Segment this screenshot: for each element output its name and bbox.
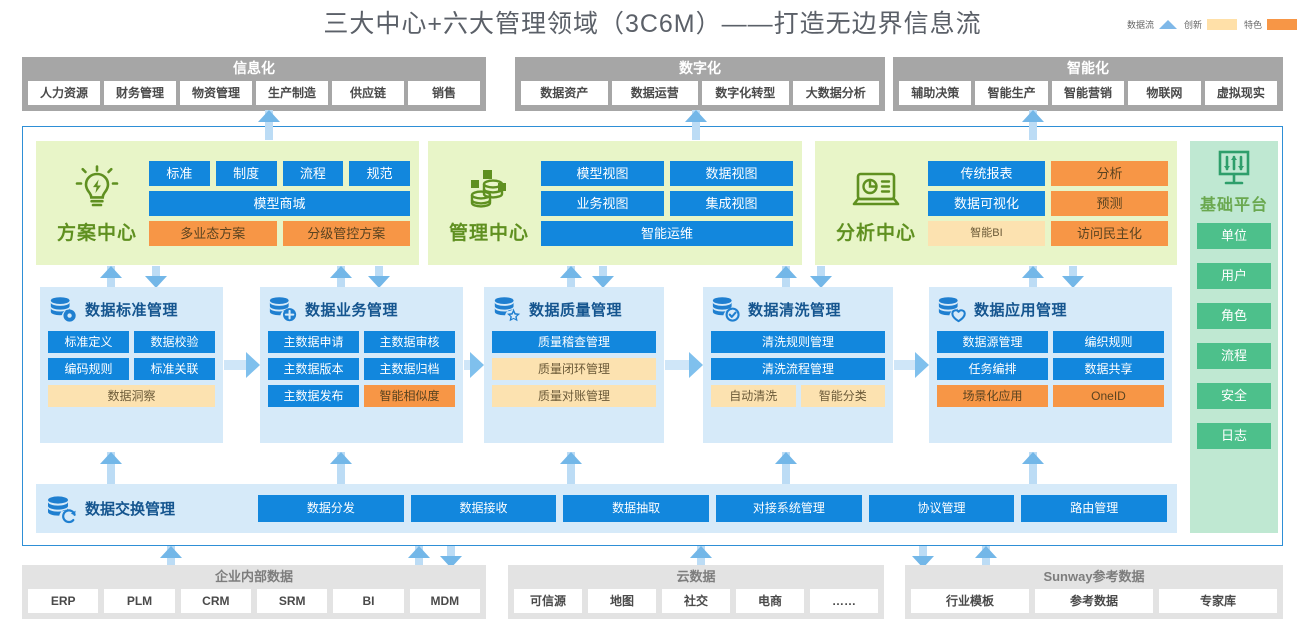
- module-item[interactable]: 主数据发布: [268, 385, 359, 407]
- center-item[interactable]: 规范: [349, 161, 410, 186]
- source-title: 云数据: [514, 568, 878, 585]
- source-cell[interactable]: ……: [810, 589, 878, 613]
- module-item[interactable]: 智能分类: [801, 385, 886, 407]
- band-cell[interactable]: 数据运营: [612, 81, 699, 105]
- center-item[interactable]: 访问民主化: [1051, 221, 1168, 246]
- equalizer-monitor-icon: [1213, 149, 1255, 189]
- legend-swatch-feature: [1267, 19, 1297, 30]
- module-item[interactable]: 主数据申请: [268, 331, 359, 353]
- module-items: 质量稽查管理 质量闭环管理 质量对账管理: [492, 331, 656, 407]
- module-item[interactable]: 清洗流程管理: [711, 358, 885, 380]
- module-header: 数据清洗管理: [711, 294, 885, 324]
- module-item[interactable]: 标准定义: [48, 331, 129, 353]
- band-items: 辅助决策 智能生产 智能营销 物联网 虚拟现实: [899, 81, 1277, 105]
- legend-item-innovation: 创新: [1184, 18, 1237, 31]
- flow-arrow-down: [1062, 266, 1084, 288]
- base-platform-item[interactable]: 单位: [1197, 223, 1271, 249]
- source-cell[interactable]: 电商: [736, 589, 804, 613]
- flow-arrow-up: [560, 266, 582, 288]
- center-item[interactable]: 模型视图: [541, 161, 664, 186]
- exchange-title: 数据交换管理: [85, 498, 175, 519]
- module-header: 数据应用管理: [937, 294, 1164, 324]
- band-title: 信息化: [28, 60, 480, 77]
- base-platform-item[interactable]: 角色: [1197, 303, 1271, 329]
- module-header: 数据业务管理: [268, 294, 455, 324]
- band-cell[interactable]: 物联网: [1128, 81, 1200, 105]
- source-items: 可信源 地图 社交 电商 ……: [514, 589, 878, 613]
- band-cell[interactable]: 虚拟现实: [1205, 81, 1277, 105]
- band-title: 智能化: [899, 60, 1277, 77]
- module-items: 数据源管理 编织规则 任务编排 数据共享 场景化应用 OneID: [937, 331, 1164, 407]
- center-item[interactable]: 制度: [216, 161, 277, 186]
- center-item[interactable]: 传统报表: [928, 161, 1045, 186]
- flow-arrow-up: [775, 266, 797, 288]
- module-data-cleaning: 数据清洗管理 清洗规则管理 清洗流程管理 自动清洗 智能分类: [703, 287, 893, 443]
- exchange-item[interactable]: 对接系统管理: [716, 495, 862, 522]
- band-title: 数字化: [521, 60, 879, 77]
- band-informatization: 信息化 人力资源 财务管理 物资管理 生产制造 供应链 销售: [22, 57, 486, 111]
- source-title: 企业内部数据: [28, 568, 480, 585]
- legend-item-feature: 特色: [1244, 18, 1297, 31]
- source-cell[interactable]: 可信源: [514, 589, 582, 613]
- module-header: 数据质量管理: [492, 294, 656, 324]
- flow-arrow-right: [224, 352, 260, 378]
- source-items: 行业模板 参考数据 专家库: [911, 589, 1277, 613]
- flow-arrow-down: [810, 266, 832, 288]
- module-item[interactable]: 质量闭环管理: [492, 358, 656, 380]
- flow-arrow-up: [685, 110, 707, 140]
- center-name: 管理中心: [449, 218, 529, 245]
- band-cell[interactable]: 生产制造: [256, 81, 328, 105]
- flow-arrow-right: [464, 352, 484, 378]
- database-plus-icon: [268, 294, 298, 324]
- module-title: 数据标准管理: [85, 299, 178, 320]
- legend-label-innovation: 创新: [1184, 18, 1202, 31]
- module-items: 主数据申请 主数据审核 主数据版本 主数据归档 主数据发布 智能相似度: [268, 331, 455, 407]
- module-items: 标准定义 数据校验 编码规则 标准关联 数据洞察: [48, 331, 215, 407]
- flow-arrow-up: [1022, 266, 1044, 288]
- flow-arrow-down: [592, 266, 614, 288]
- center-management: 管理中心 模型视图 数据视图 业务视图 集成视图 智能运维: [428, 141, 802, 265]
- band-cell[interactable]: 数据资产: [521, 81, 608, 105]
- center-solution: 方案中心 标准 制度 流程 规范 模型商城 多业态方案 分级管控方案: [36, 141, 419, 265]
- base-platform-items: 单位 用户 角色 流程 安全 日志: [1197, 223, 1271, 525]
- band-cell[interactable]: 销售: [408, 81, 480, 105]
- up-arrow-icon: [1159, 20, 1177, 29]
- legend-item-dataflow: 数据流: [1127, 18, 1177, 31]
- base-platform-item[interactable]: 用户: [1197, 263, 1271, 289]
- database-star-icon: [492, 294, 522, 324]
- band-cell[interactable]: 辅助决策: [899, 81, 971, 105]
- exchange-item[interactable]: 数据抽取: [563, 495, 709, 522]
- module-item[interactable]: 场景化应用: [937, 385, 1048, 407]
- database-stack-icon: [462, 162, 516, 216]
- center-item[interactable]: 数据可视化: [928, 191, 1045, 216]
- center-item[interactable]: 模型商城: [149, 191, 410, 216]
- module-item[interactable]: OneID: [1053, 385, 1164, 407]
- module-title: 数据质量管理: [529, 299, 622, 320]
- module-item[interactable]: 主数据版本: [268, 358, 359, 380]
- flow-arrow-up: [100, 452, 122, 484]
- module-data-application: 数据应用管理 数据源管理 编织规则 任务编排 数据共享 场景化应用 OneID: [929, 287, 1172, 443]
- center-item[interactable]: 流程: [283, 161, 344, 186]
- module-data-exchange: 数据交换管理 数据分发 数据接收 数据抽取 对接系统管理 协议管理 路由管理: [36, 484, 1177, 533]
- center-item[interactable]: 集成视图: [670, 191, 793, 216]
- module-item[interactable]: 主数据审核: [364, 331, 455, 353]
- flow-arrow-down: [145, 266, 167, 288]
- flow-arrow-up: [560, 452, 582, 484]
- module-items: 清洗规则管理 清洗流程管理 自动清洗 智能分类: [711, 331, 885, 407]
- exchange-item[interactable]: 协议管理: [869, 495, 1015, 522]
- center-item[interactable]: 分级管控方案: [283, 221, 411, 246]
- database-check-icon: [711, 294, 741, 324]
- module-item[interactable]: 智能相似度: [364, 385, 455, 407]
- band-cell[interactable]: 财务管理: [104, 81, 176, 105]
- source-cell[interactable]: 地图: [588, 589, 656, 613]
- flow-arrow-up: [258, 110, 280, 140]
- exchange-header: 数据交换管理: [46, 493, 251, 525]
- center-items: 标准 制度 流程 规范 模型商城 多业态方案 分级管控方案: [149, 148, 410, 258]
- module-item[interactable]: 主数据归档: [364, 358, 455, 380]
- source-title: Sunway参考数据: [911, 568, 1277, 585]
- database-sync-icon: [46, 493, 78, 525]
- center-identity: 方案中心: [45, 162, 149, 245]
- legend-label-dataflow: 数据流: [1127, 18, 1154, 31]
- exchange-item[interactable]: 数据接收: [411, 495, 557, 522]
- module-item[interactable]: 数据校验: [134, 331, 215, 353]
- center-item[interactable]: 智能运维: [541, 221, 793, 246]
- band-cell[interactable]: 智能生产: [975, 81, 1047, 105]
- center-item[interactable]: 多业态方案: [149, 221, 277, 246]
- exchange-item[interactable]: 数据分发: [258, 495, 404, 522]
- module-item[interactable]: 任务编排: [937, 358, 1048, 380]
- band-cell[interactable]: 大数据分析: [793, 81, 880, 105]
- band-cell[interactable]: 供应链: [332, 81, 404, 105]
- lightbulb-icon: [70, 162, 124, 216]
- band-cell[interactable]: 物资管理: [180, 81, 252, 105]
- band-items: 人力资源 财务管理 物资管理 生产制造 供应链 销售: [28, 81, 480, 105]
- source-cell[interactable]: BI: [333, 589, 403, 613]
- center-analysis: 分析中心 传统报表 分析 数据可视化 预测 智能BI 访问民主化: [815, 141, 1177, 265]
- source-cloud: 云数据 可信源 地图 社交 电商 ……: [508, 565, 884, 619]
- flow-arrow-right: [894, 352, 929, 378]
- page-title: 三大中心+六大管理领域（3C6M）——打造无边界信息流: [0, 4, 1305, 40]
- module-title: 数据业务管理: [305, 299, 398, 320]
- source-items: ERP PLM CRM SRM BI MDM: [28, 589, 480, 613]
- center-name: 方案中心: [57, 218, 137, 245]
- base-platform-panel: 基础平台 单位 用户 角色 流程 安全 日志: [1190, 141, 1278, 533]
- base-platform-item[interactable]: 安全: [1197, 383, 1271, 409]
- center-item[interactable]: 智能BI: [928, 221, 1045, 246]
- source-cell[interactable]: 行业模板: [911, 589, 1029, 613]
- module-data-standard: 数据标准管理 标准定义 数据校验 编码规则 标准关联 数据洞察: [40, 287, 223, 443]
- center-items: 传统报表 分析 数据可视化 预测 智能BI 访问民主化: [928, 148, 1168, 258]
- center-identity: 分析中心: [824, 162, 928, 245]
- base-platform-item[interactable]: 日志: [1197, 423, 1271, 449]
- module-item[interactable]: 编码规则: [48, 358, 129, 380]
- center-identity: 管理中心: [437, 162, 541, 245]
- band-intelligentization: 智能化 辅助决策 智能生产 智能营销 物联网 虚拟现实: [893, 57, 1283, 111]
- source-cell[interactable]: SRM: [257, 589, 327, 613]
- flow-arrow-up: [330, 452, 352, 484]
- legend: 数据流 创新 特色: [1127, 18, 1297, 31]
- module-item[interactable]: 自动清洗: [711, 385, 796, 407]
- source-internal: 企业内部数据 ERP PLM CRM SRM BI MDM: [22, 565, 486, 619]
- source-cell[interactable]: 专家库: [1159, 589, 1277, 613]
- module-item[interactable]: 标准关联: [134, 358, 215, 380]
- flow-arrow-up: [330, 266, 352, 288]
- flow-arrow-up: [775, 452, 797, 484]
- source-sunway: Sunway参考数据 行业模板 参考数据 专家库: [905, 565, 1283, 619]
- module-item[interactable]: 质量对账管理: [492, 385, 656, 407]
- base-platform-title: 基础平台: [1200, 191, 1268, 215]
- module-data-quality: 数据质量管理 质量稽查管理 质量闭环管理 质量对账管理: [484, 287, 664, 443]
- source-cell[interactable]: 社交: [662, 589, 730, 613]
- flow-arrow-up: [100, 266, 122, 288]
- module-item[interactable]: 数据共享: [1053, 358, 1164, 380]
- laptop-chart-icon: [849, 162, 903, 216]
- band-cell[interactable]: 人力资源: [28, 81, 100, 105]
- exchange-item[interactable]: 路由管理: [1021, 495, 1167, 522]
- center-item[interactable]: 标准: [149, 161, 210, 186]
- module-header: 数据标准管理: [48, 294, 215, 324]
- flow-arrow-up: [1022, 452, 1044, 484]
- source-cell[interactable]: PLM: [104, 589, 174, 613]
- center-item[interactable]: 业务视图: [541, 191, 664, 216]
- module-item[interactable]: 清洗规则管理: [711, 331, 885, 353]
- source-cell[interactable]: MDM: [410, 589, 480, 613]
- source-cell[interactable]: ERP: [28, 589, 98, 613]
- band-cell[interactable]: 数字化转型: [702, 81, 789, 105]
- flow-arrow-down: [368, 266, 390, 288]
- legend-swatch-innovation: [1207, 19, 1237, 30]
- source-cell[interactable]: CRM: [181, 589, 251, 613]
- legend-label-feature: 特色: [1244, 18, 1262, 31]
- module-item[interactable]: 编织规则: [1053, 331, 1164, 353]
- band-items: 数据资产 数据运营 数字化转型 大数据分析: [521, 81, 879, 105]
- center-items: 模型视图 数据视图 业务视图 集成视图 智能运维: [541, 148, 793, 258]
- module-data-business: 数据业务管理 主数据申请 主数据审核 主数据版本 主数据归档 主数据发布 智能相…: [260, 287, 463, 443]
- band-digitalization: 数字化 数据资产 数据运营 数字化转型 大数据分析: [515, 57, 885, 111]
- center-item[interactable]: 分析: [1051, 161, 1168, 186]
- module-item[interactable]: 质量稽查管理: [492, 331, 656, 353]
- flow-arrow-right: [665, 352, 703, 378]
- module-item[interactable]: 数据源管理: [937, 331, 1048, 353]
- source-cell[interactable]: 参考数据: [1035, 589, 1153, 613]
- center-item[interactable]: 数据视图: [670, 161, 793, 186]
- base-platform-item[interactable]: 流程: [1197, 343, 1271, 369]
- band-cell[interactable]: 智能营销: [1052, 81, 1124, 105]
- center-name: 分析中心: [836, 218, 916, 245]
- flow-arrow-up: [1022, 110, 1044, 140]
- module-item[interactable]: 数据洞察: [48, 385, 215, 407]
- database-gear-icon: [48, 294, 78, 324]
- module-title: 数据应用管理: [974, 299, 1067, 320]
- module-title: 数据清洗管理: [748, 299, 841, 320]
- database-heart-icon: [937, 294, 967, 324]
- center-item[interactable]: 预测: [1051, 191, 1168, 216]
